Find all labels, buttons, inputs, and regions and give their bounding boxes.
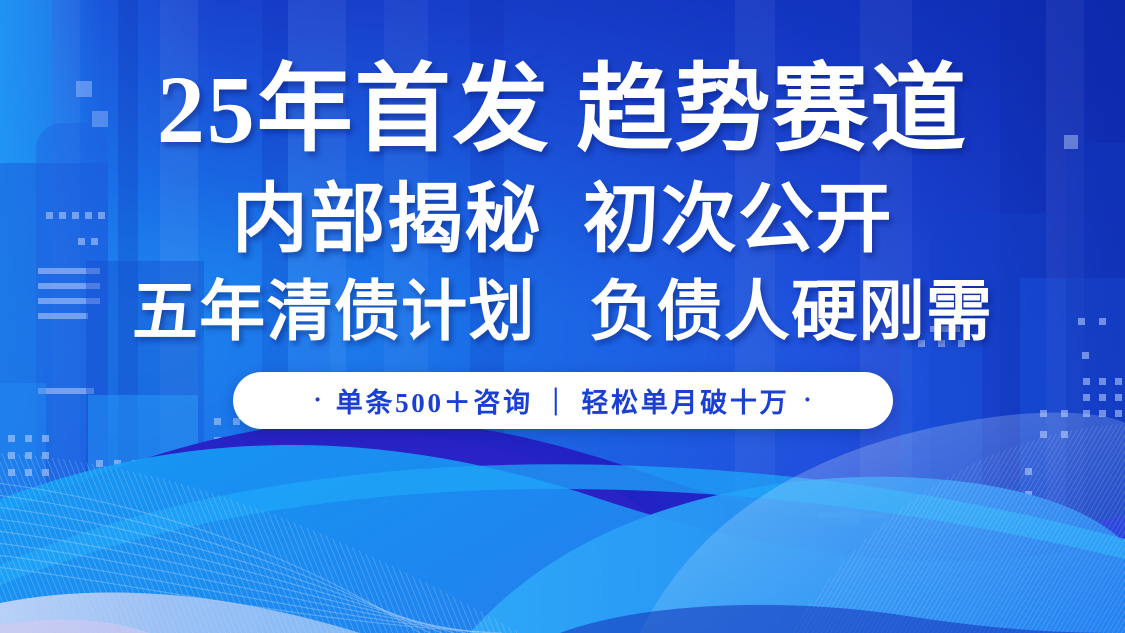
headline-line-2: 内部揭秘 初次公开	[232, 182, 893, 258]
headline-line-3: 五年清债计划 负债人硬刚需	[132, 280, 993, 346]
pill-left-dot-icon: ·	[313, 388, 321, 413]
poster-canvas: 25年首发 趋势赛道 内部揭秘 初次公开 五年清债计划 负债人硬刚需 · 单条5…	[0, 0, 1125, 633]
headline-line-1: 25年首发 趋势赛道	[157, 62, 968, 158]
headline-group: 25年首发 趋势赛道 内部揭秘 初次公开 五年清债计划 负债人硬刚需 · 单条5…	[0, 0, 1125, 429]
tagline-pill: · 单条500＋咨询 ｜ 轻松单月破十万 ·	[233, 372, 893, 429]
pill-text: 单条500＋咨询 ｜ 轻松单月破十万	[336, 381, 790, 420]
pill-right-dot-icon: ·	[803, 388, 811, 413]
